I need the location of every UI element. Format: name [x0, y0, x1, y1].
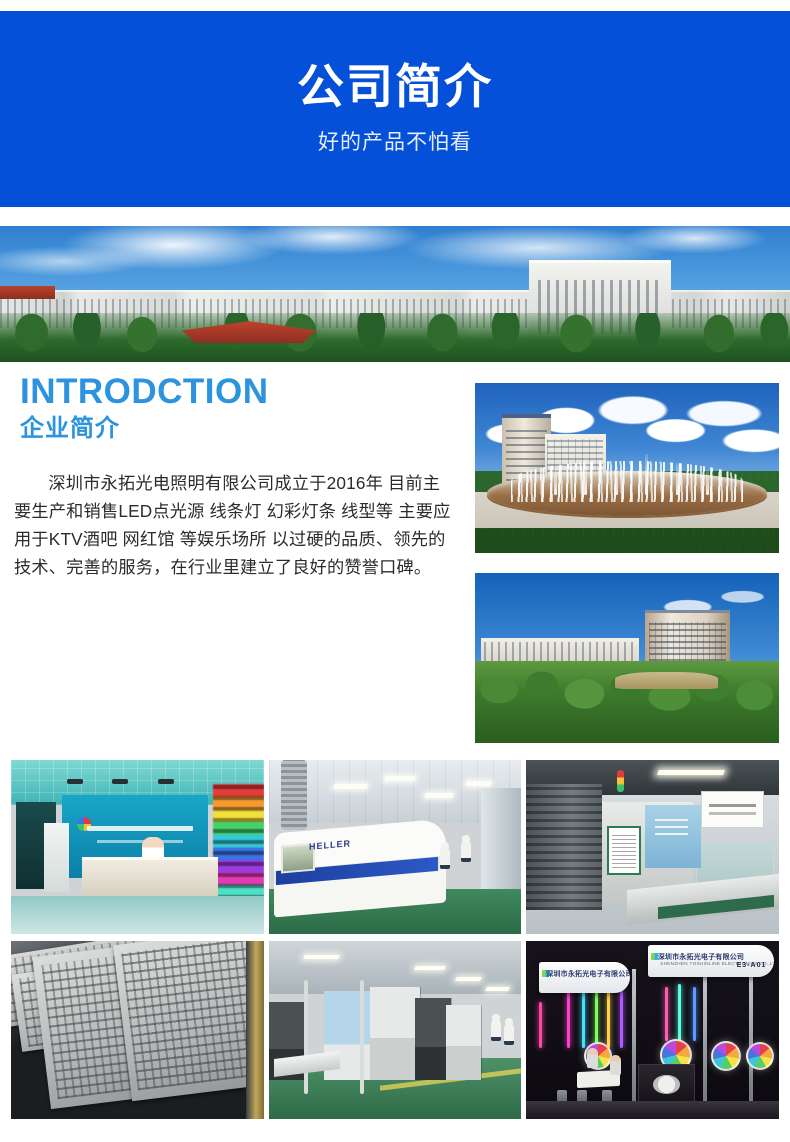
neon-light-tube	[582, 984, 585, 1048]
gallery-item-reflow-oven: HELLER	[269, 760, 522, 934]
color-wheel-graphic	[711, 1041, 741, 1071]
gallery-item-exhibition-booth: 深圳市永拓光电子有限公司 深圳市永拓光电子有限公司 SHENZHEN YOSHI…	[526, 941, 779, 1119]
ceiling-lamp-icon	[414, 966, 446, 970]
pcb-panel	[113, 941, 263, 1101]
water-jet	[584, 458, 587, 495]
floor-surface	[526, 1101, 779, 1119]
page-subtitle: 好的产品不怕看	[318, 126, 472, 156]
neon-light-tube	[539, 1002, 542, 1048]
red-roof-left	[0, 286, 55, 300]
tree-line	[0, 313, 790, 362]
track-light-icon	[67, 779, 83, 784]
gallery-item-reception	[11, 760, 264, 934]
worker-figure	[491, 1019, 501, 1041]
page-title: 公司简介	[297, 62, 493, 111]
andon-tower-light-icon	[617, 770, 624, 792]
photo-campus-greenery	[475, 573, 779, 743]
booth-counter	[638, 1064, 696, 1105]
booth-pillar	[703, 969, 707, 1111]
worker-figure	[440, 847, 450, 869]
booth-pillar	[632, 969, 636, 1111]
gallery-item-smt-machine	[526, 760, 779, 934]
line-machine	[370, 987, 421, 1080]
introduction-section: INTRODCTION 企业简介 深圳市永拓光电照明有限公司成立于2016年 目…	[0, 372, 470, 581]
booth-sign-cn-text: 深圳市永拓光电子有限公司	[546, 969, 630, 979]
worker-figure	[461, 840, 471, 862]
clearing-ground	[615, 672, 718, 689]
ceiling-lamp-icon	[657, 770, 725, 775]
booth-sign-cn-text: 深圳市永拓光电子有限公司	[658, 952, 744, 962]
page-banner: 公司简介 好的产品不怕看	[0, 11, 790, 207]
exhaust-duct	[281, 760, 306, 830]
safety-rail	[304, 980, 308, 1094]
booth-sign-main: 深圳市永拓光电子有限公司 SHENZHEN YOSHINLINE ELECTRO…	[648, 945, 774, 977]
ceiling-lamp-icon	[425, 793, 454, 798]
tray-edge	[246, 941, 264, 1119]
neon-light-tube	[620, 987, 623, 1048]
intro-body-text: 深圳市永拓光电照明有限公司成立于2016年 目前主要生产和销售LED点光源 线条…	[14, 470, 456, 581]
visitor-figure	[587, 1048, 598, 1068]
booth-sign-left: 深圳市永拓光电子有限公司	[539, 962, 630, 992]
gallery-item-pcb-panels	[11, 941, 264, 1119]
safety-rail	[360, 980, 364, 1094]
neon-light-tube	[595, 987, 598, 1048]
floor-surface	[11, 896, 264, 934]
neon-light-tube	[678, 984, 681, 1041]
water-jet	[676, 463, 679, 495]
neon-light-tube	[665, 987, 668, 1040]
intro-heading-cn: 企业简介	[20, 415, 470, 444]
track-light-icon	[158, 779, 174, 784]
company-name-plate	[87, 826, 193, 831]
led-strip-display-rack	[213, 784, 264, 899]
company-name-plate-sub	[97, 840, 183, 843]
facility-photo-grid: HELLER	[11, 760, 779, 1119]
feeder-rack	[526, 784, 602, 909]
booth-code-label: E3-A01	[737, 962, 767, 969]
neon-light-tube	[567, 991, 570, 1048]
workshop-wall	[481, 788, 521, 896]
process-document-holder	[607, 826, 641, 875]
wall-sign-board	[701, 791, 764, 828]
display-kiosk	[44, 823, 69, 893]
water-jet	[706, 470, 709, 496]
ceiling-lamp-icon	[485, 987, 510, 991]
factory-panorama-photo	[0, 226, 790, 362]
water-jet	[554, 468, 557, 495]
water-jet	[615, 465, 618, 496]
foreground-hedge	[475, 528, 779, 554]
ceiling-lamp-icon	[384, 776, 416, 781]
ceiling-lamp-icon	[334, 784, 368, 789]
photo-fountain-plaza	[475, 383, 779, 553]
worker-figure	[504, 1023, 514, 1045]
booth-pillar	[749, 969, 753, 1111]
ceiling-lamp-icon	[465, 781, 492, 786]
water-jet	[645, 454, 648, 495]
track-light-icon	[112, 779, 128, 784]
ceiling-lamp-icon	[303, 955, 340, 959]
ceiling-lamp-icon	[455, 977, 482, 981]
neon-light-tube	[693, 987, 696, 1040]
visitor-figure	[610, 1055, 621, 1075]
gallery-item-production-line	[269, 941, 522, 1119]
line-machine	[446, 1005, 481, 1080]
intro-heading-en: INTRODCTION	[20, 372, 470, 411]
machine-blue-panel	[645, 805, 701, 868]
